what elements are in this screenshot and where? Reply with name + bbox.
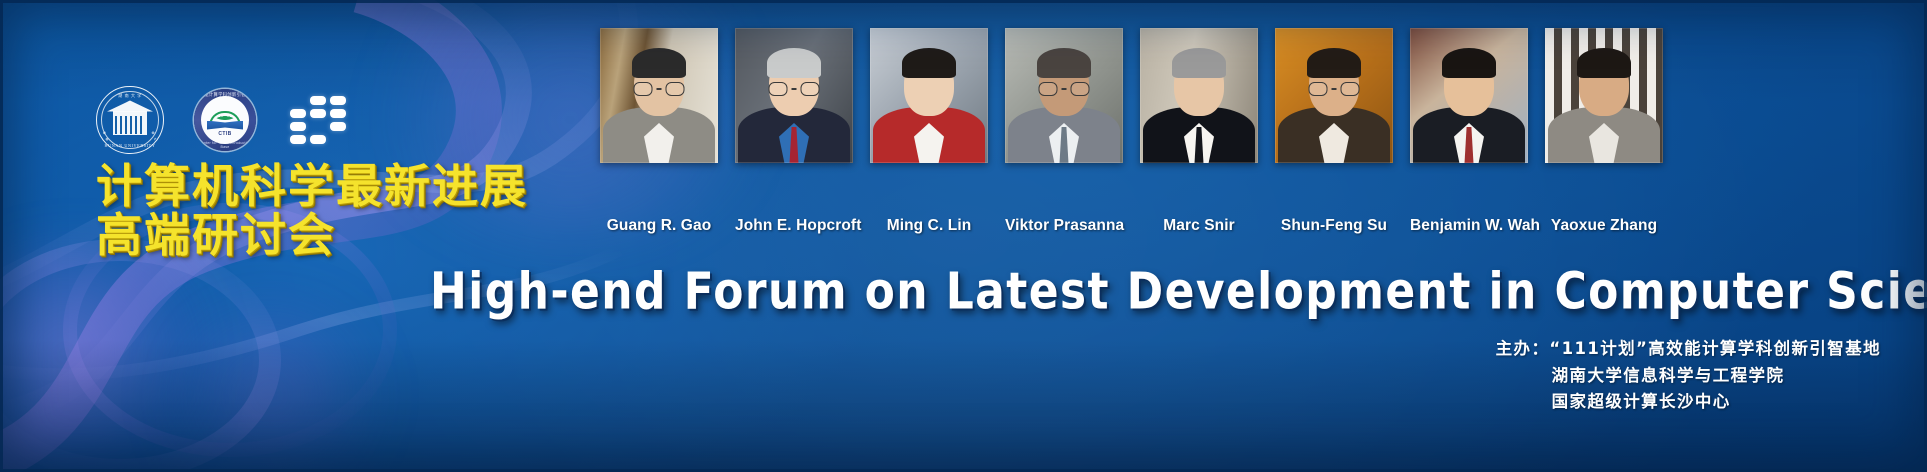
speaker-portrait-row: [600, 28, 1663, 163]
ctib-wave-icon: [208, 104, 242, 120]
seal-bottom-text: HUNAN UNIVERSITY: [96, 143, 164, 148]
speaker-name: Ming C. Lin: [870, 217, 988, 235]
speaker-portrait: [1275, 28, 1393, 163]
speaker-name: Shun-Feng Su: [1275, 217, 1393, 235]
conference-banner: 湖 南 大 学 HUNAN UNIVERSITY 高效能计算学科创新引智基地 C…: [0, 0, 1927, 472]
portrait-frame: [1275, 28, 1393, 163]
dot-cell-empty: [310, 122, 326, 131]
speaker-portrait: [1140, 28, 1258, 163]
dot-cell: [290, 109, 306, 118]
portrait-frame: [870, 28, 988, 163]
speaker-portrait: [735, 28, 853, 163]
portrait-frame: [1005, 28, 1123, 163]
english-title: High-end Forum on Latest Development in …: [430, 262, 1927, 321]
organizer-line2: 湖南大学信息科学与工程学院: [1496, 363, 1881, 390]
speaker-name: John E. Hopcroft: [735, 217, 853, 235]
dot-cell: [330, 109, 346, 118]
speaker-portrait: [870, 28, 988, 163]
speaker-name: Viktor Prasanna: [1005, 217, 1123, 235]
chinese-title-line2: 高端研讨会: [96, 211, 528, 260]
ctib-logo: 高效能计算学科创新引智基地 Center for Talent Introduc…: [194, 89, 256, 151]
organizer-block: 主办：“111计划”高效能计算学科创新引智基地 湖南大学信息科学与工程学院 国家…: [1496, 336, 1881, 416]
speaker-name: Guang R. Gao: [600, 217, 718, 235]
seal-top-text: 湖 南 大 学: [96, 93, 164, 99]
speaker-name-row: Guang R. GaoJohn E. HopcroftMing C. LinV…: [600, 217, 1663, 235]
speaker-portrait: [1410, 28, 1528, 163]
portrait-frame: [600, 28, 718, 163]
dot-cell: [290, 135, 306, 144]
organizer-label: 主办：: [1496, 339, 1550, 358]
dot-cell-empty: [290, 96, 306, 105]
dot-cell: [290, 122, 306, 131]
chinese-title-line1: 计算机科学最新进展: [96, 162, 528, 211]
dot-cell: [330, 96, 346, 105]
dot-cell: [310, 109, 326, 118]
speaker-name: Benjamin W. Wah: [1410, 217, 1528, 235]
organizer-name-1: “111计划”高效能计算学科创新引智基地: [1549, 339, 1881, 358]
speaker-portrait: [1545, 28, 1663, 163]
portrait-frame: [735, 28, 853, 163]
portrait-frame: [1545, 28, 1663, 163]
dot-matrix-mark: [290, 96, 346, 144]
ctib-emblem: CTIB: [201, 96, 249, 144]
hunan-university-logo: 湖 南 大 学 HUNAN UNIVERSITY: [96, 86, 164, 154]
dot-cell: [310, 96, 326, 105]
logo-row: 湖 南 大 学 HUNAN UNIVERSITY 高效能计算学科创新引智基地 C…: [96, 86, 346, 154]
chinese-title: 计算机科学最新进展 高端研讨会: [96, 162, 528, 260]
dot-cell-empty: [330, 135, 346, 144]
ctib-abbr: CTIB: [218, 131, 231, 137]
speaker-portrait: [600, 28, 718, 163]
speaker-name: Yaoxue Zhang: [1545, 217, 1663, 235]
dot-cell: [310, 135, 326, 144]
portrait-frame: [1140, 28, 1258, 163]
portrait-frame: [1410, 28, 1528, 163]
speaker-name: Marc Snir: [1140, 217, 1258, 235]
organizer-line3: 国家超级计算长沙中心: [1496, 389, 1881, 416]
dot-cell: [330, 122, 346, 131]
speaker-portrait: [1005, 28, 1123, 163]
organizer-line1: 主办：“111计划”高效能计算学科创新引智基地: [1496, 336, 1881, 363]
building-columns-icon: [115, 116, 145, 134]
